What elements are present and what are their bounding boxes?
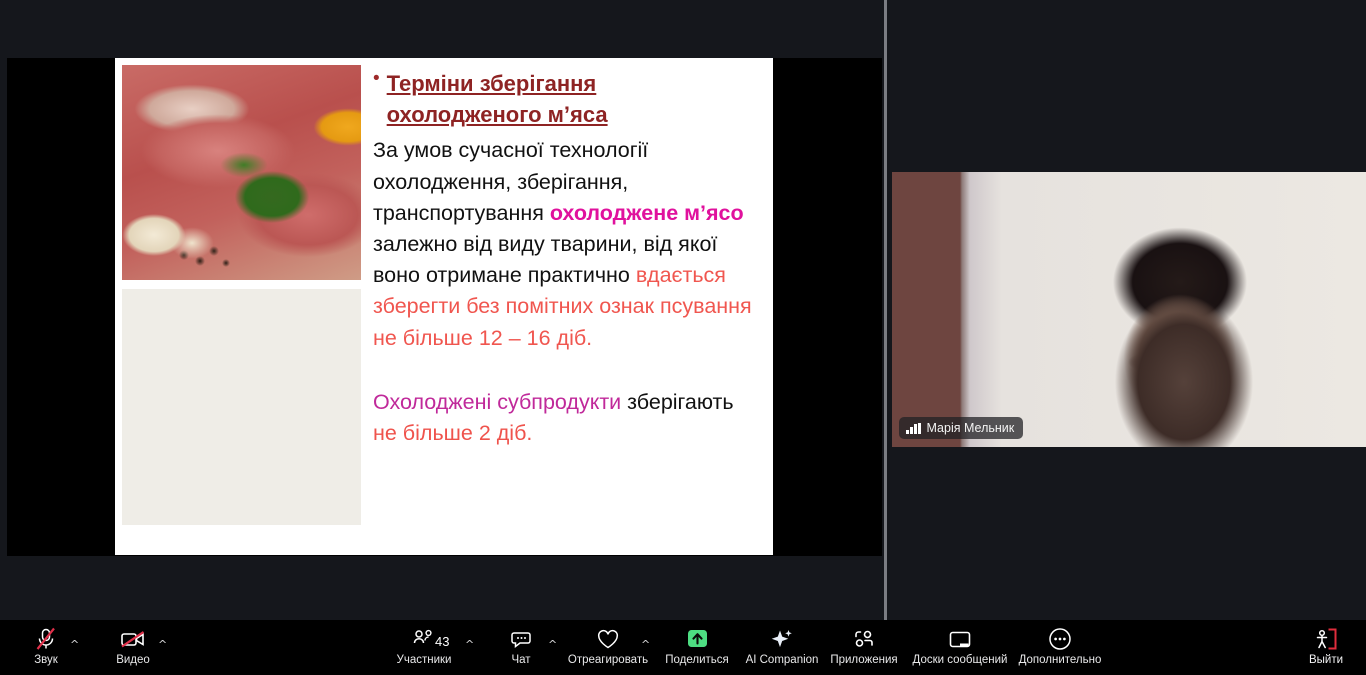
slide-paragraph-2: Охолоджені субпродукти зберігають не біл…	[373, 387, 761, 449]
audio-label: Звук	[34, 655, 58, 667]
slide-heading-text: Терміни зберігання охолодженого м’яса	[387, 68, 608, 130]
zoom-meeting-window: • Терміни зберігання охолодженого м’яса …	[0, 0, 1366, 675]
participants-chevron-icon[interactable]: ^	[465, 638, 474, 651]
share-screen-button[interactable]: Поделиться	[661, 620, 733, 675]
chat-chevron-icon[interactable]: ^	[548, 638, 557, 651]
apps-icon	[852, 627, 876, 651]
video-label: Видео	[116, 655, 150, 667]
video-tile-maria[interactable]: Марія Мельник	[892, 172, 1366, 447]
par2-highlight-2: не більше 2 діб.	[373, 421, 532, 445]
reactions-button[interactable]: Отреагировать	[565, 620, 651, 675]
audio-chevron-icon[interactable]: ^	[70, 638, 79, 651]
apps-label: Приложения	[830, 655, 897, 667]
whiteboards-label: Доски сообщений	[913, 655, 1008, 667]
participant-name-label: Марія Мельник	[927, 421, 1015, 435]
leave-meeting-button[interactable]: Выйти	[1300, 620, 1352, 675]
ai-companion-label: AI Companion	[746, 655, 819, 667]
presentation-slide: • Терміни зберігання охолодженого м’яса …	[115, 58, 773, 555]
signal-strength-icon	[906, 423, 921, 434]
audio-button[interactable]: Звук	[20, 620, 72, 675]
shared-screen-region[interactable]: • Терміни зберігання охолодженого м’яса …	[0, 0, 884, 620]
bullet-icon: •	[373, 68, 380, 90]
leave-label: Выйти	[1309, 655, 1343, 667]
slide-heading: • Терміни зберігання охолодженого м’яса	[373, 68, 761, 130]
slide-heading-line-1: Терміни зберігання	[387, 71, 597, 96]
par2-seg-2: зберігають	[621, 390, 733, 414]
slide-paragraph-1: За умов сучасної технології охолодження,…	[373, 135, 761, 353]
participants-label: Участники	[397, 655, 452, 667]
par2-highlight-1: Охолоджені субпродукти	[373, 390, 621, 414]
more-label: Дополнительно	[1019, 655, 1102, 667]
ai-companion-button[interactable]: AI Companion	[741, 620, 823, 675]
video-chevron-icon[interactable]: ^	[158, 638, 167, 651]
whiteboards-button[interactable]: Доски сообщений	[905, 620, 1015, 675]
slide-text-column: • Терміни зберігання охолодженого м’яса …	[365, 58, 773, 555]
offal-photo	[122, 289, 361, 525]
par1-highlight-1: охолоджене м’ясо	[550, 201, 744, 225]
chat-label: Чат	[511, 655, 530, 667]
participants-count: 43	[435, 634, 449, 649]
chat-button[interactable]: Чат	[498, 620, 544, 675]
participants-button[interactable]: Участники	[385, 620, 463, 675]
apps-button[interactable]: Приложения	[825, 620, 903, 675]
participant-video-panel: Марія Мельник	[887, 0, 1366, 620]
webcam-video-feed	[892, 172, 1366, 447]
more-button[interactable]: Дополнительно	[1010, 620, 1110, 675]
chat-bubble-icon	[510, 627, 532, 651]
meeting-toolbar: Звук ^ Видео ^	[0, 620, 1366, 675]
camera-muted-icon	[120, 627, 146, 651]
ellipsis-icon	[1048, 627, 1072, 651]
participant-name-badge: Марія Мельник	[899, 417, 1023, 439]
share-label: Поделиться	[665, 655, 729, 667]
video-button[interactable]: Видео	[105, 620, 161, 675]
paragraph-spacer	[373, 354, 761, 382]
slide-heading-line-2: охолодженого м’яса	[387, 102, 608, 127]
raw-meat-photo	[122, 65, 361, 280]
slide-images-column	[115, 58, 365, 555]
whiteboard-icon	[947, 627, 973, 651]
reactions-chevron-icon[interactable]: ^	[641, 638, 650, 651]
shared-content-stage[interactable]: • Терміни зберігання охолодженого м’яса …	[7, 58, 882, 556]
microphone-muted-icon	[35, 627, 57, 651]
reactions-label: Отреагировать	[568, 655, 648, 667]
leave-door-icon	[1313, 627, 1339, 651]
participants-icon	[411, 627, 437, 651]
heart-icon	[596, 627, 620, 651]
share-screen-up-arrow-icon	[682, 627, 712, 651]
sparkle-icon	[769, 627, 795, 651]
